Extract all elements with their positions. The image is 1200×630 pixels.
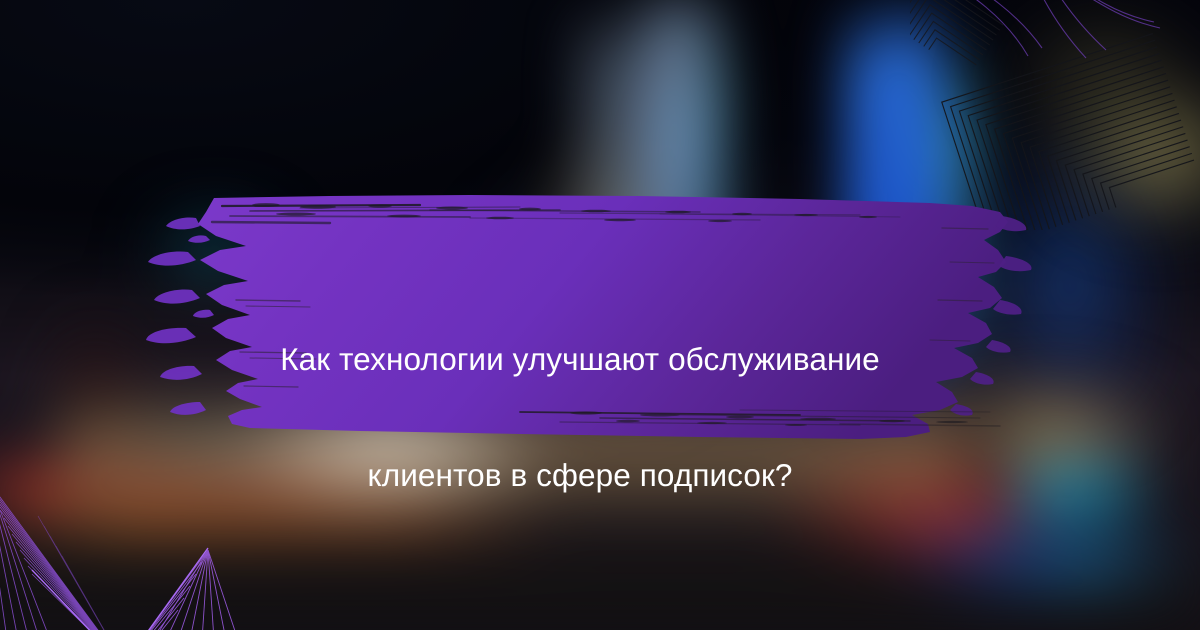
headline-line-2: клиентов в сфере подписок? <box>180 446 980 504</box>
social-share-card: Как технологии улучшают обслуживание кли… <box>0 0 1200 630</box>
page-title: Как технологии улучшают обслуживание кли… <box>180 272 980 562</box>
headline-line-1: Как технологии улучшают обслуживание <box>180 330 980 388</box>
chevron-line-mesh-icon <box>910 0 1200 230</box>
